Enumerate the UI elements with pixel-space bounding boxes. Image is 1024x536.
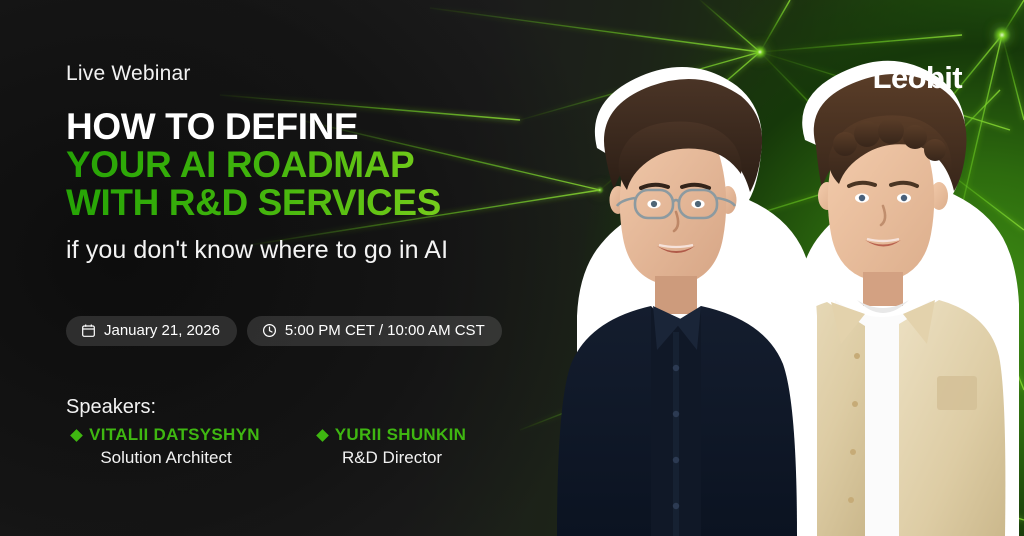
speaker-name: YURII SHUNKIN [335,425,466,445]
speaker-role: Solution Architect [66,448,266,468]
time-badge: 5:00 PM CET / 10:00 AM CST [247,316,502,346]
headline-line-2: YOUR AI ROADMAP [66,146,496,184]
event-details: January 21, 2026 5:00 PM CET / 10:00 AM … [66,316,502,346]
diamond-bullet-icon [70,429,83,442]
speaker-role: R&D Director [292,448,492,468]
time-text: 5:00 PM CET / 10:00 AM CST [285,323,485,338]
speaker-item: YURII SHUNKIN R&D Director [292,425,492,468]
speakers-list: VITALII DATSYSHYN Solution Architect YUR… [66,425,492,468]
date-text: January 21, 2026 [104,323,220,338]
clock-icon [262,323,277,338]
leobit-logo[interactable]: Leobit [873,60,962,96]
headline-line-1: HOW TO DEFINE [66,108,496,146]
webinar-banner: Leobit Live Webinar HOW TO DEFINE YOUR A… [0,0,1024,536]
diamond-bullet-icon [316,429,329,442]
date-badge: January 21, 2026 [66,316,237,346]
speaker-item: VITALII DATSYSHYN Solution Architect [66,425,266,468]
subheadline: if you don't know where to go in AI [66,236,448,265]
speakers-label: Speakers: [66,396,156,419]
content-column: Live Webinar HOW TO DEFINE YOUR AI ROADM… [66,0,536,536]
headline: HOW TO DEFINE YOUR AI ROADMAP WITH R&D S… [66,108,496,222]
kicker-label: Live Webinar [66,62,191,86]
calendar-icon [81,323,96,338]
speaker-name: VITALII DATSYSHYN [89,425,260,445]
headline-line-3: WITH R&D SERVICES [66,184,496,222]
